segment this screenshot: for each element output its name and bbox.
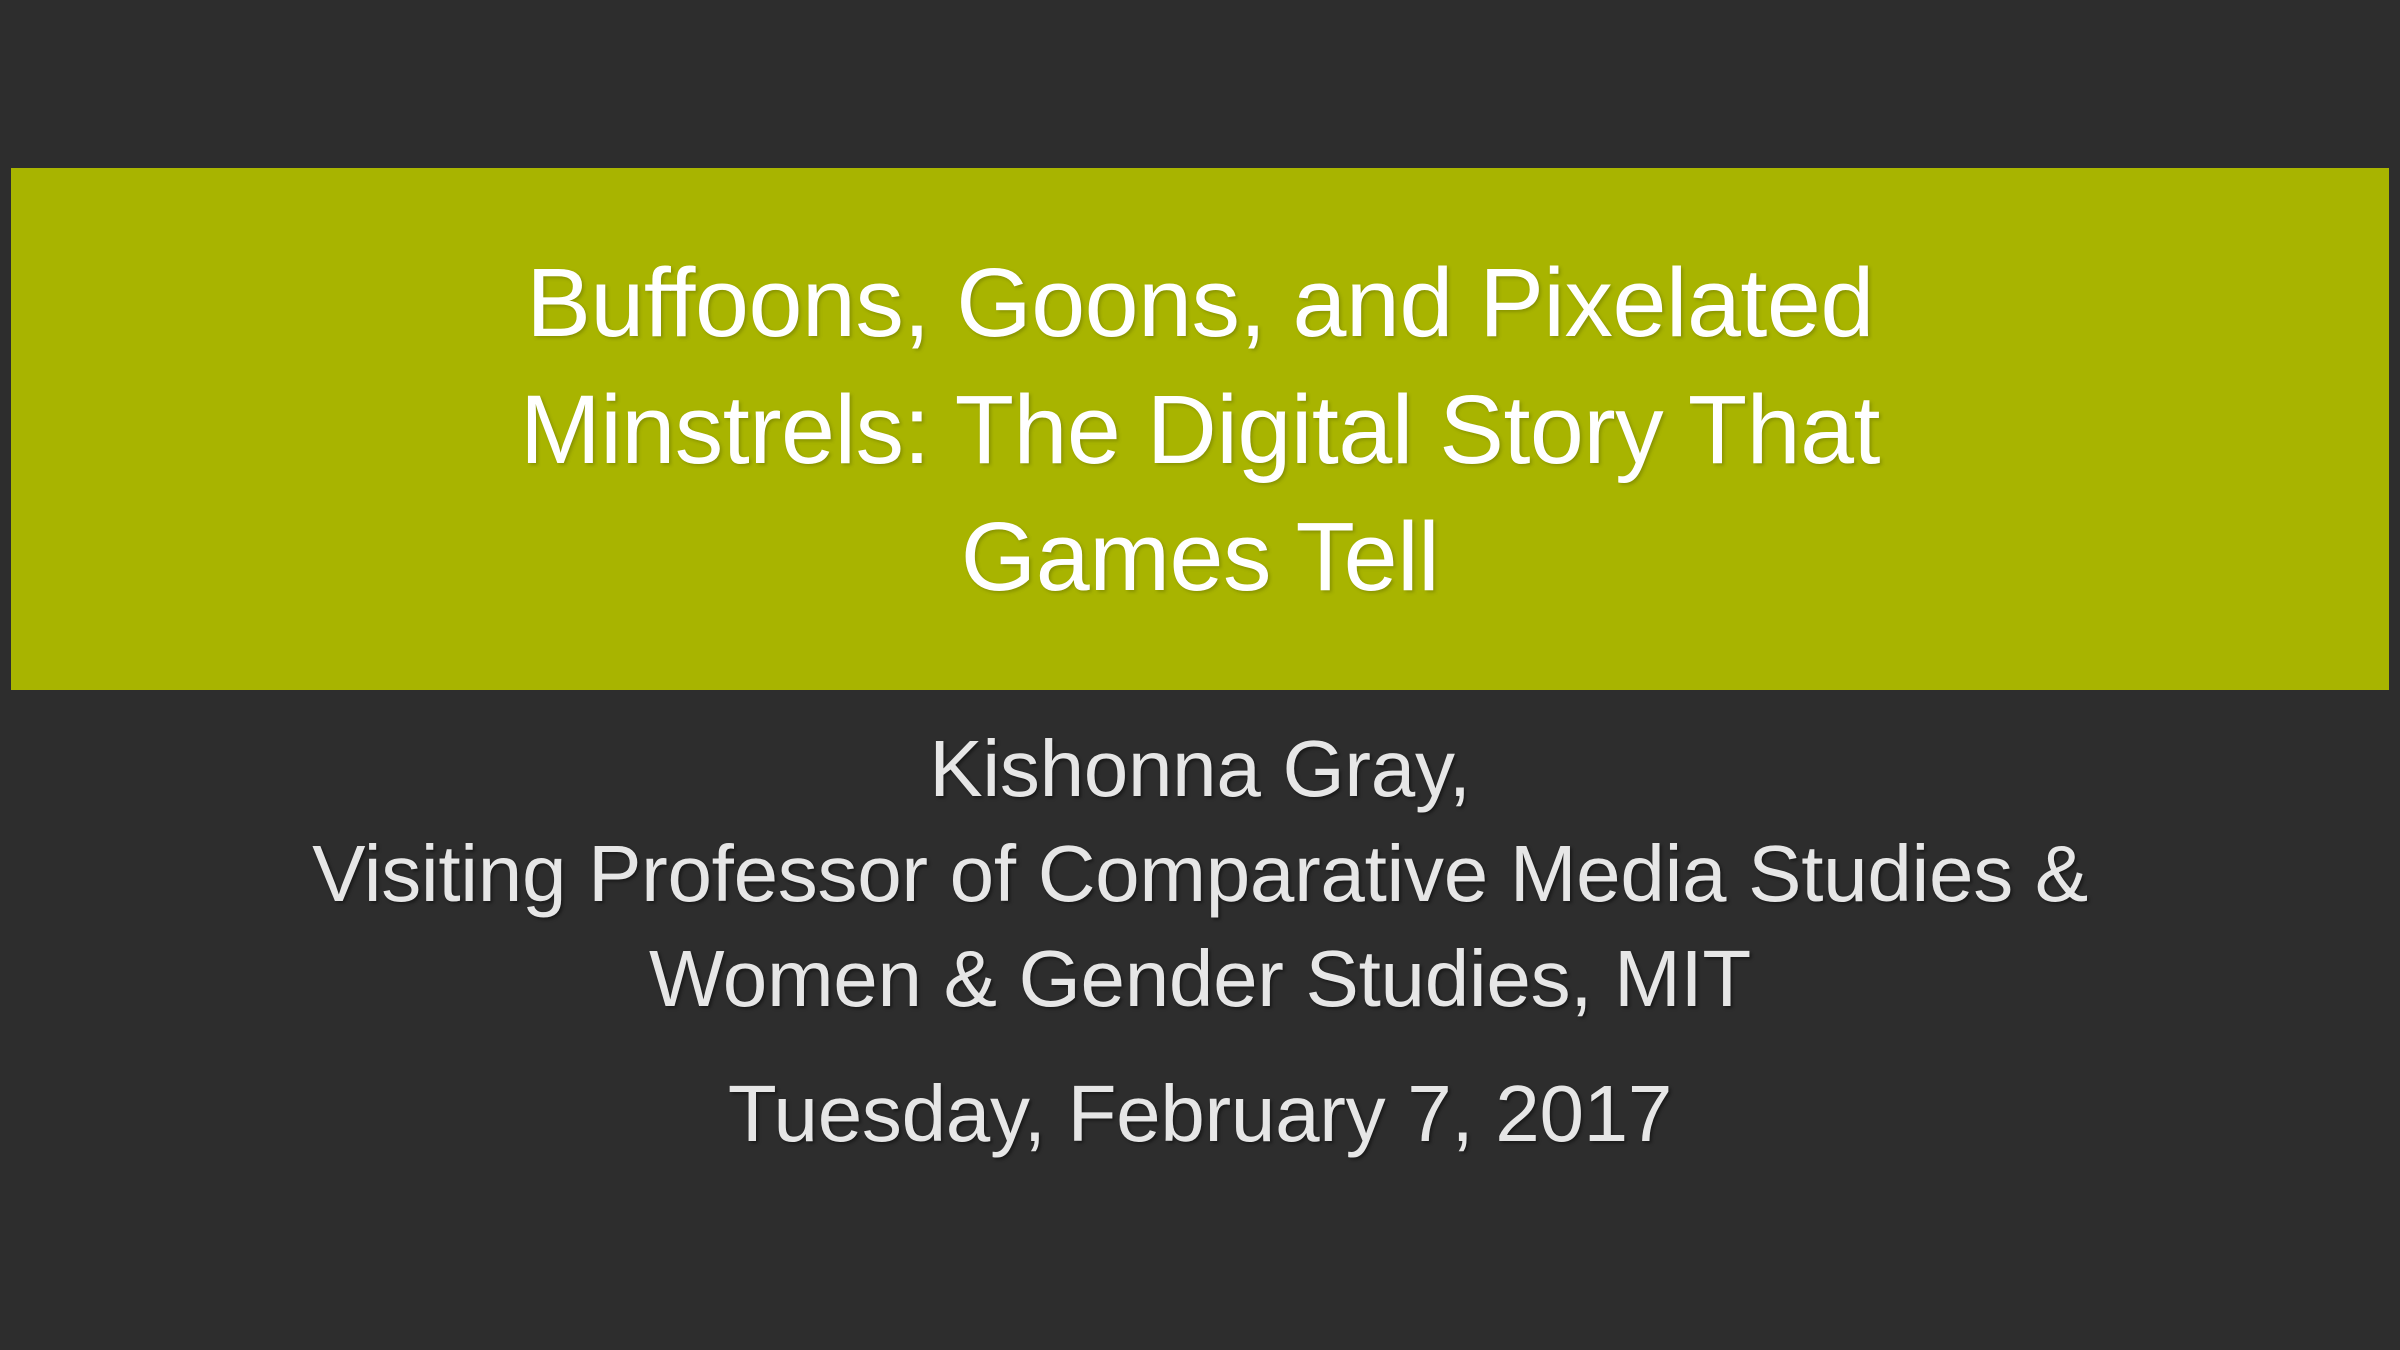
- presentation-date: Tuesday, February 7, 2017: [0, 1031, 2400, 1166]
- slide-title: Buffoons, Goons, and Pixelated Minstrels…: [71, 239, 2329, 620]
- title-banner: Buffoons, Goons, and Pixelated Minstrels…: [11, 168, 2389, 690]
- presenter-affiliation: Visiting Professor of Comparative Media …: [0, 821, 2400, 1031]
- presentation-slide: Buffoons, Goons, and Pixelated Minstrels…: [0, 0, 2400, 1350]
- subtitle-block: Kishonna Gray, Visiting Professor of Com…: [0, 716, 2400, 1166]
- presenter-name: Kishonna Gray,: [0, 716, 2400, 821]
